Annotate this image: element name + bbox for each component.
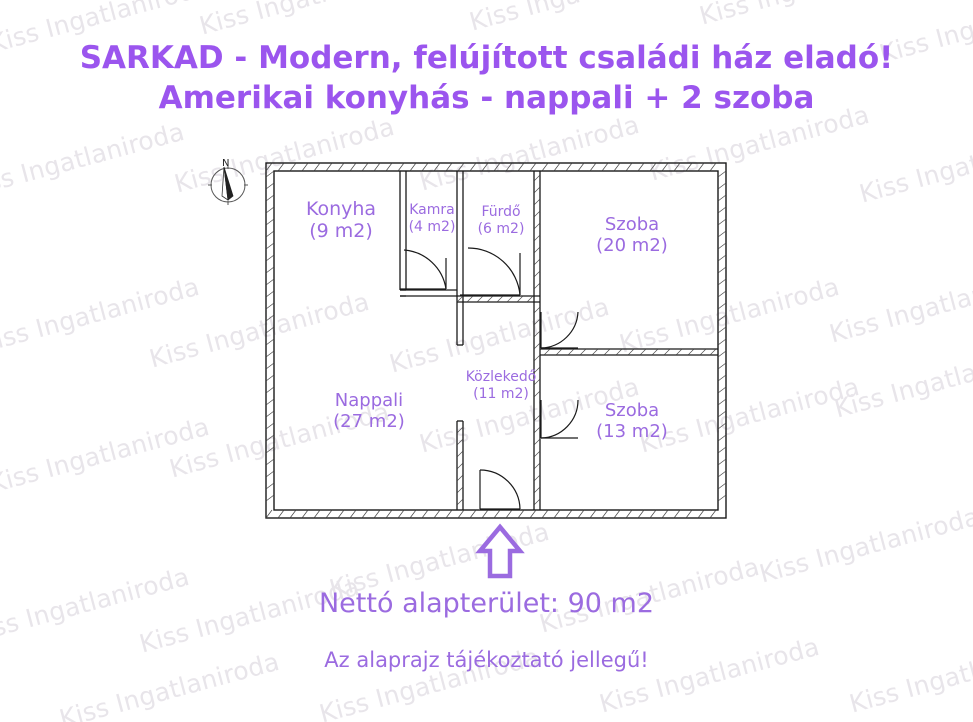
door-szoba-20	[541, 312, 578, 348]
entrance-arrow	[480, 527, 520, 576]
north-label: N	[222, 158, 229, 169]
wall-kamra-bottom	[400, 290, 457, 296]
wall-furdo-bottom	[457, 296, 540, 302]
north-arrow-icon: N	[208, 158, 248, 205]
title-line-2: Amerikai konyhás - nappali + 2 szoba	[0, 78, 973, 118]
listing-title: SARKAD - Modern, felújított családi ház …	[0, 38, 973, 118]
wall-konyha-kamra	[400, 171, 406, 290]
door-entrance	[480, 470, 520, 509]
walls	[266, 163, 726, 518]
net-area-caption: Nettó alapterület: 90 m2	[0, 588, 973, 619]
floorplan-page: Kiss IngatlanirodaKiss IngatlanirodaKiss…	[0, 0, 973, 722]
wall-hatching-top	[266, 163, 716, 171]
door-kamra	[400, 250, 446, 289]
title-line-1: SARKAD - Modern, felújított családi ház …	[0, 38, 973, 78]
wall-hall-szoba	[534, 171, 540, 510]
wall-between-bedrooms	[540, 349, 718, 355]
door-szoba-13	[541, 400, 578, 438]
wall-kamra-furdo	[457, 171, 463, 345]
wall-hatching-left	[266, 171, 274, 501]
disclaimer-caption: Az alaprajz tájékoztató jellegű!	[0, 648, 973, 672]
wall-hatching-bottom	[266, 510, 716, 518]
door-furdo	[460, 248, 520, 295]
wall-hatching-right	[718, 171, 726, 501]
wall-nappali-hall	[457, 421, 463, 510]
doors	[400, 248, 578, 509]
